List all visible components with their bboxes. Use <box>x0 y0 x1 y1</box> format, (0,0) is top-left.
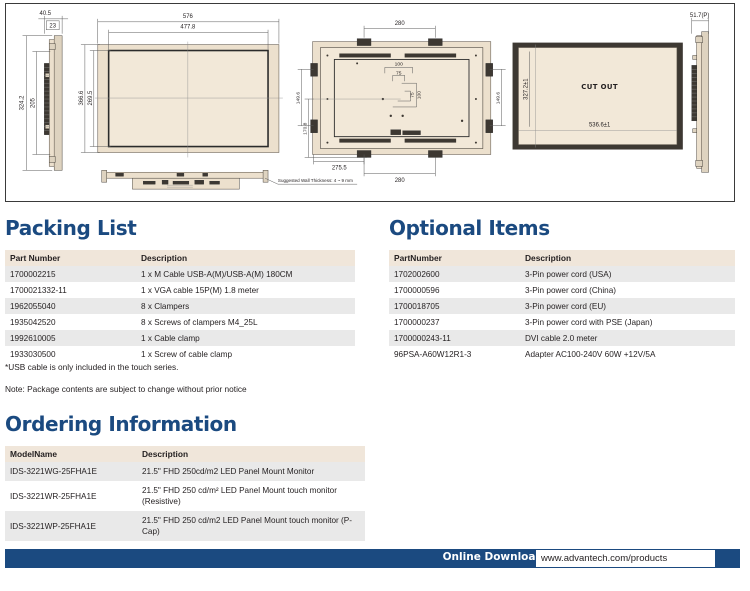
table-row: 1935042520 8 x Screws of clampers M4_25L <box>5 314 355 330</box>
table-header-row: Part Number Description <box>5 250 355 266</box>
ordering-information-title: Ordering Information <box>5 412 237 436</box>
dim-vesa-75-h: 75 <box>396 70 402 76</box>
table-row: 1702002600 3-Pin power cord (USA) <box>389 266 735 282</box>
dim-280-bottom: 280 <box>395 178 406 184</box>
table-header-row: PartNumber Description <box>389 250 735 266</box>
cell-part-number: 1700002215 <box>5 266 136 282</box>
dim-324-2: 324.2 <box>20 96 26 111</box>
dim-149-6-left: 149.6 <box>296 92 302 105</box>
side-view-right: 51.7(P) <box>690 13 709 172</box>
cell-description: 3-Pin power cord with PSE (Japan) <box>520 314 735 330</box>
online-download-url[interactable]: www.advantech.com/products <box>536 553 667 564</box>
table-row: 1700000596 3-Pin power cord (China) <box>389 282 735 298</box>
cell-description: DVI cable 2.0 meter <box>520 330 735 346</box>
table-header-row: ModelName Description <box>5 446 365 462</box>
cell-description: 21.5" FHD 250 cd/m² LED Panel Mount touc… <box>137 481 365 511</box>
cell-part-number: 96PSA-A60W12R1-3 <box>389 346 520 362</box>
dim-269-5: 269.5 <box>88 90 94 106</box>
side-view-left: 40.5 23 324.2 205 <box>20 11 69 170</box>
ordering-information-table: ModelName Description IDS-3221WG-25FHA1E… <box>5 446 365 541</box>
cell-part-number: 1962055040 <box>5 298 136 314</box>
dim-275-5: 275.5 <box>332 165 348 171</box>
dim-366-6: 366.6 <box>79 90 85 106</box>
table-row: 1992610005 1 x Cable clamp <box>5 330 355 346</box>
column-header-part-number: Part Number <box>5 250 136 266</box>
column-header-model-name: ModelName <box>5 446 137 462</box>
cell-description: 1 x Screw of cable clamp <box>136 346 355 362</box>
dim-vesa-100-h: 100 <box>395 61 403 67</box>
dim-205: 205 <box>30 97 36 108</box>
cell-description: 1 x Cable clamp <box>136 330 355 346</box>
cell-part-number: 1992610005 <box>5 330 136 346</box>
rear-view: 100 75 100 75 28 <box>296 21 506 184</box>
table-row: IDS-3221WR-25FHA1E 21.5" FHD 250 cd/m² L… <box>5 481 365 511</box>
dim-536-6: 536.6±1 <box>589 123 610 129</box>
footer-bar: Online Download www.advantech.com/produc… <box>5 549 740 568</box>
column-header-description: Description <box>136 250 355 266</box>
table-row: 1700000237 3-Pin power cord with PSE (Ja… <box>389 314 735 330</box>
table-row: 1700018705 3-Pin power cord (EU) <box>389 298 735 314</box>
cell-model-name: IDS-3221WP-25FHA1E <box>5 511 137 541</box>
optional-items-title: Optional Items <box>389 216 550 240</box>
cell-part-number: 1700018705 <box>389 298 520 314</box>
online-download-url-box[interactable]: www.advantech.com/products <box>536 550 715 567</box>
drawing-canvas: 40.5 23 324.2 205 <box>6 4 734 201</box>
dim-vesa-75-v: 75 <box>410 92 416 98</box>
cell-part-number: 1702002600 <box>389 266 520 282</box>
online-download-label: Online Download <box>443 551 543 563</box>
cell-part-number: 1933030500 <box>5 346 136 362</box>
front-view: 576 477.8 366.6 269.5 <box>79 14 283 158</box>
table-row: 1700002215 1 x M Cable USB-A(M)/USB-A(M)… <box>5 266 355 282</box>
cutout-label: CUT OUT <box>581 83 618 91</box>
cell-description: Adapter AC100-240V 60W +12V/5A <box>520 346 735 362</box>
packing-list-title: Packing List <box>5 216 136 240</box>
optional-items-table: PartNumber Description 1702002600 3-Pin … <box>389 250 735 362</box>
cell-description: 1 x VGA cable 15P(M) 1.8 meter <box>136 282 355 298</box>
dim-477-8: 477.8 <box>180 25 196 31</box>
bottom-view: Suggested Wall Thickness: 4 ~ 9 mm <box>102 170 357 189</box>
table-row: 1700000243-11 DVI cable 2.0 meter <box>389 330 735 346</box>
package-contents-note: Note: Package contents are subject to ch… <box>5 384 247 394</box>
cell-description: 3-Pin power cord (USA) <box>520 266 735 282</box>
table-row: IDS-3221WP-25FHA1E 21.5" FHD 250 cd/m2 L… <box>5 511 365 541</box>
dim-149-6-right: 149.6 <box>496 92 502 105</box>
column-header-part-number: PartNumber <box>389 250 520 266</box>
dim-vesa-100-v: 100 <box>416 91 422 99</box>
cell-description: 8 x Clampers <box>136 298 355 314</box>
cell-description: 21.5" FHD 250cd/m2 LED Panel Mount Monit… <box>137 462 365 481</box>
cell-part-number: 1700021332-11 <box>5 282 136 298</box>
cell-part-number: 1935042520 <box>5 314 136 330</box>
cutout-view: CUT OUT 327.2±1 536.6±1 <box>513 43 683 150</box>
dim-40-5: 40.5 <box>40 11 52 17</box>
dim-51-7-p: 51.7(P) <box>690 13 709 19</box>
table-row: 1700021332-11 1 x VGA cable 15P(M) 1.8 m… <box>5 282 355 298</box>
table-row: 1933030500 1 x Screw of cable clamp <box>5 346 355 362</box>
cell-model-name: IDS-3221WG-25FHA1E <box>5 462 137 481</box>
column-header-description: Description <box>137 446 365 462</box>
dim-327-2: 327.2±1 <box>523 78 529 99</box>
cell-part-number: 1700000596 <box>389 282 520 298</box>
cell-model-name: IDS-3221WR-25FHA1E <box>5 481 137 511</box>
mechanical-drawing-frame: 40.5 23 324.2 205 <box>5 3 735 202</box>
cell-description: 8 x Screws of clampers M4_25L <box>136 314 355 330</box>
dim-23: 23 <box>49 24 56 30</box>
cell-description: 1 x M Cable USB-A(M)/USB-A(M) 180CM <box>136 266 355 282</box>
cell-description: 3-Pin power cord (China) <box>520 282 735 298</box>
table-row: 1962055040 8 x Clampers <box>5 298 355 314</box>
cell-description: 3-Pin power cord (EU) <box>520 298 735 314</box>
dim-280-top: 280 <box>395 21 406 27</box>
cell-part-number: 1700000237 <box>389 314 520 330</box>
cell-part-number: 1700000243-11 <box>389 330 520 346</box>
usb-cable-note: *USB cable is only included in the touch… <box>5 362 178 372</box>
table-row: IDS-3221WG-25FHA1E 21.5" FHD 250cd/m2 LE… <box>5 462 365 481</box>
dim-170-8: 170.8 <box>303 122 309 135</box>
wall-thickness-note: Suggested Wall Thickness: 4 ~ 9 mm <box>278 178 353 183</box>
cell-description: 21.5" FHD 250 cd/m2 LED Panel Mount touc… <box>137 511 365 541</box>
column-header-description: Description <box>520 250 735 266</box>
dim-576: 576 <box>183 14 194 20</box>
table-row: 96PSA-A60W12R1-3 Adapter AC100-240V 60W … <box>389 346 735 362</box>
packing-list-table: Part Number Description 1700002215 1 x M… <box>5 250 355 362</box>
